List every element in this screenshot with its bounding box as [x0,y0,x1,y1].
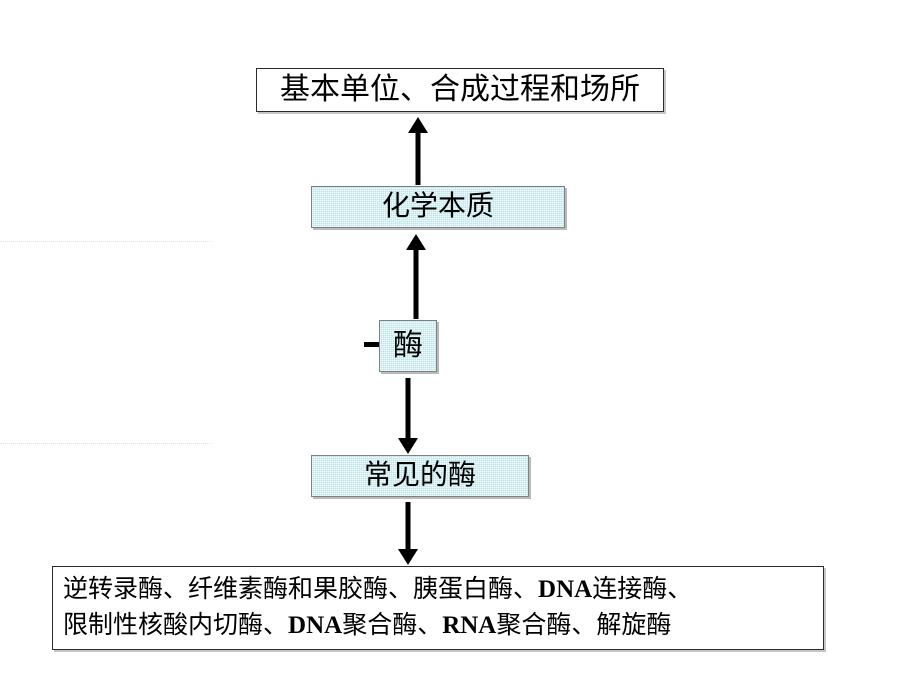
connector-stub-left [364,342,380,347]
guide-line-lower [0,443,212,444]
line1-segment-dna: DNA [538,576,592,603]
arrow-shaft [416,130,421,185]
line2-segment-dna: DNA [288,612,342,639]
node-enzyme[interactable]: 酶 [379,320,437,372]
line2-segment-c: 聚合酶、 [342,612,442,639]
node-chemical-nature[interactable]: 化学本质 [311,186,565,228]
arrow-shaft [406,502,411,552]
enzyme-examples-line-2: 限制性核酸内切酶、DNA聚合酶、RNA聚合酶、解旋酶 [63,608,815,644]
arrow-shaft [414,247,419,319]
line1-segment-a: 逆转录酶、纤维素酶和果胶酶、胰蛋白酶、 [63,576,538,603]
line1-segment-c: 连接酶、 [592,576,692,603]
arrow-head-down-icon [398,549,418,565]
line2-segment-rna: RNA [442,612,496,639]
line2-segment-e: 聚合酶、解旋酶 [496,612,671,639]
node-basic-unit-synthesis[interactable]: 基本单位、合成过程和场所 [256,68,664,112]
node-enzyme-examples[interactable]: 逆转录酶、纤维素酶和果胶酶、胰蛋白酶、DNA连接酶、 限制性核酸内切酶、DNA聚… [52,566,824,650]
arrow-head-down-icon [398,438,418,454]
slide-canvas: 基本单位、合成过程和场所 化学本质 酶 常见的酶 逆转录酶、纤维素酶和果胶酶、胰… [0,0,920,690]
arrow-shaft [406,378,411,441]
line2-segment-a: 限制性核酸内切酶、 [63,612,288,639]
enzyme-examples-line-1: 逆转录酶、纤维素酶和果胶酶、胰蛋白酶、DNA连接酶、 [63,572,815,608]
guide-line-upper [0,241,212,242]
node-common-enzymes[interactable]: 常见的酶 [311,455,529,497]
